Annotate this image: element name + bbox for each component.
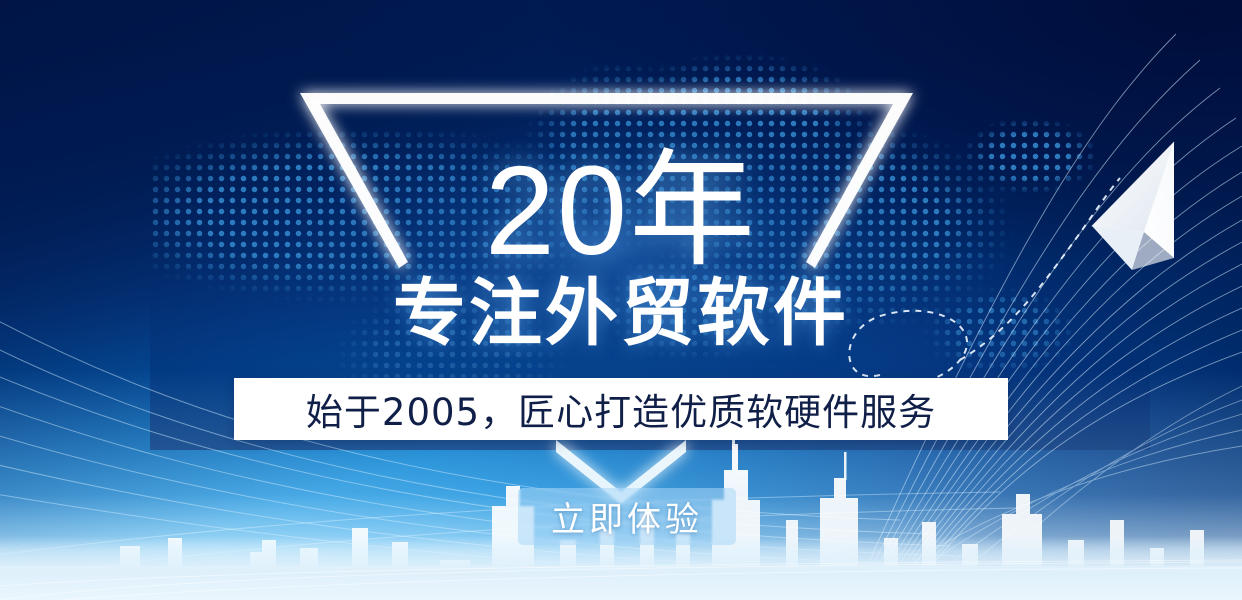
cta-label: 立即体验: [551, 492, 703, 541]
headline-number: 20: [485, 140, 629, 281]
promo-banner: 20年 专注外贸软件 始于2005，匠心打造优质软硬件服务 立即体验: [0, 0, 1242, 600]
page-title: 20年: [0, 148, 1242, 274]
subtitle-bar: 始于2005，匠心打造优质软硬件服务: [234, 378, 1008, 440]
subtitle-text: 始于2005，匠心打造优质软硬件服务: [306, 382, 936, 436]
headline-unit: 年: [629, 137, 757, 284]
headline-subtitle: 专注外贸软件: [0, 277, 1242, 350]
cta-button[interactable]: 立即体验: [518, 488, 736, 545]
